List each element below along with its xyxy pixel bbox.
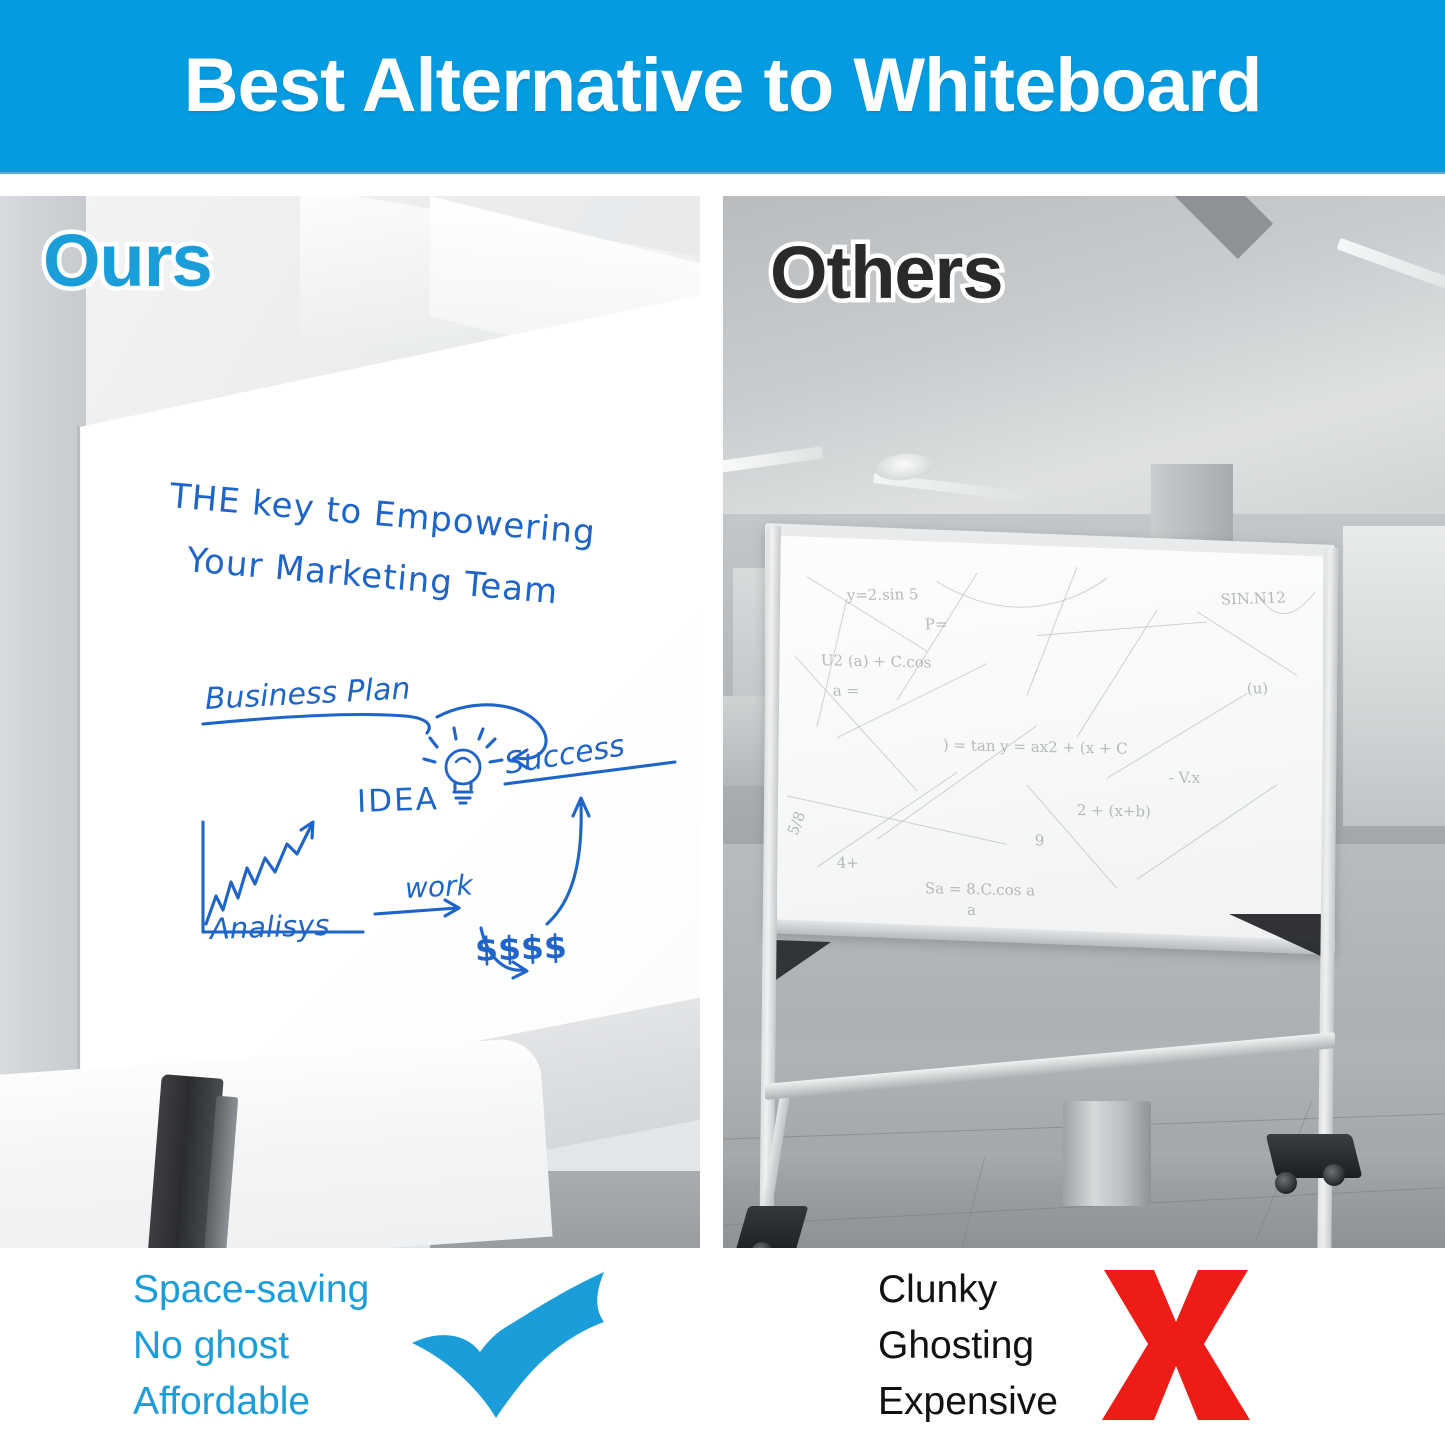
drawbacks-list: Clunky Ghosting Expensive xyxy=(878,1262,1058,1430)
footer-others: Clunky Ghosting Expensive xyxy=(878,1254,1378,1430)
svg-text:y=2.sin 5: y=2.sin 5 xyxy=(845,585,919,604)
svg-text:Sa = 8.C.cos a: Sa = 8.C.cos a xyxy=(925,879,1035,899)
comparison-panels: THE key to Empowering Your Marketing Tea… xyxy=(0,196,1445,1248)
svg-text:U2 (a) + C.cos: U2 (a) + C.cos xyxy=(821,651,932,671)
drawback-item: Expensive xyxy=(878,1374,1058,1430)
svg-text:P=: P= xyxy=(925,615,948,633)
svg-text:4+: 4+ xyxy=(837,854,860,872)
svg-text:) = tan y = ax2 + (x + C: ) = tan y = ax2 + (x + C xyxy=(943,736,1128,758)
benefit-item: Space-saving xyxy=(133,1262,369,1318)
caster-wheel xyxy=(1323,1164,1345,1186)
drawback-item: Clunky xyxy=(878,1262,1058,1318)
page-title: Best Alternative to Whiteboard xyxy=(184,48,1262,124)
panel-others: y=2.sin 5 P= U2 (a) + C.cos a = ) = tan … xyxy=(723,196,1445,1248)
svg-text:a =: a = xyxy=(833,682,860,700)
ghosting-marks: y=2.sin 5 P= U2 (a) + C.cos a = ) = tan … xyxy=(777,536,1323,943)
benefit-item: Affordable xyxy=(133,1374,369,1430)
mobile-whiteboard-surface: y=2.sin 5 P= U2 (a) + C.cos a = ) = tan … xyxy=(777,536,1323,943)
svg-text:2 + (x+b): 2 + (x+b) xyxy=(1077,801,1151,821)
footer-ours: Space-saving No ghost Affordable xyxy=(133,1254,693,1430)
footer-summary: Space-saving No ghost Affordable Clunky … xyxy=(0,1248,1445,1430)
frame-bracket-left xyxy=(773,940,831,984)
svg-text:SIN.N12: SIN.N12 xyxy=(1220,589,1286,609)
desk-surface xyxy=(0,1037,553,1248)
benefit-item: No ghost xyxy=(133,1318,369,1374)
trash-bin xyxy=(1063,1101,1151,1206)
header-banner: Best Alternative to Whiteboard xyxy=(0,0,1445,172)
label-others: Others xyxy=(770,236,1003,310)
x-icon xyxy=(1096,1266,1256,1424)
stand-foot-right xyxy=(1266,1134,1363,1178)
benefits-list: Space-saving No ghost Affordable xyxy=(133,1262,369,1430)
caster-wheel xyxy=(1275,1172,1297,1194)
svg-text:5/8: 5/8 xyxy=(784,809,809,838)
svg-text:(u): (u) xyxy=(1246,679,1268,697)
panel-ours: THE key to Empowering Your Marketing Tea… xyxy=(0,196,700,1248)
label-ours: Ours xyxy=(43,224,212,298)
svg-text:a: a xyxy=(967,901,976,919)
drawback-item: Ghosting xyxy=(878,1318,1058,1374)
svg-text:- V.x: - V.x xyxy=(1169,769,1201,787)
header-divider xyxy=(0,170,1445,174)
svg-text:9: 9 xyxy=(1035,831,1045,849)
frame-bracket-right xyxy=(1229,914,1325,958)
doorway xyxy=(1343,526,1445,826)
check-icon xyxy=(408,1270,628,1420)
